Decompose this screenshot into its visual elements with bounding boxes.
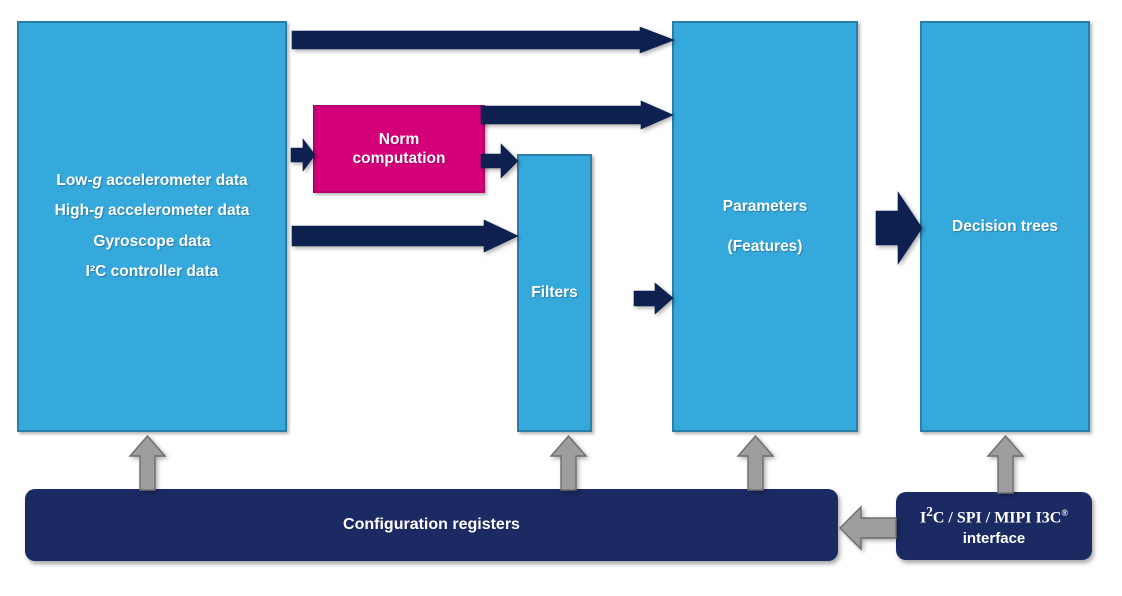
norm-label-line2: computation (353, 149, 446, 168)
configuration-registers-block: Configuration registers (25, 489, 838, 561)
registered-trademark-icon: ® (1061, 508, 1068, 518)
interface-block: I2C / SPI / MIPI I3C® interface (896, 492, 1092, 560)
arrow-interface-to-config (840, 507, 896, 549)
configuration-registers-label: Configuration registers (343, 516, 520, 534)
decision-trees-label: Decision trees (952, 218, 1058, 236)
arrow-parameters-to-decision-trees (876, 192, 922, 264)
interface-label-line2: interface (963, 529, 1026, 549)
arrow-config-to-filters (551, 436, 586, 490)
sensor-data-sources-block: Low-g accelerometer data High-g accelero… (17, 21, 287, 432)
arrow-source-to-norm (291, 139, 315, 171)
filters-label: Filters (531, 284, 578, 302)
arrow-source-to-parameters-top (292, 27, 674, 53)
arrow-config-to-parameters (738, 436, 773, 490)
interface-label-line1: I2C / SPI / MIPI I3C® (920, 503, 1068, 529)
source-line-gyroscope: Gyroscope data (93, 234, 210, 250)
source-line-i2c-controller: I²C controller data (86, 264, 219, 280)
norm-computation-block: Norm computation (313, 105, 485, 193)
arrow-norm-to-filters (481, 144, 518, 178)
decision-trees-block: Decision trees (920, 21, 1090, 432)
arrow-norm-to-parameters (481, 101, 673, 129)
source-line-low-g: Low-g accelerometer data (56, 173, 247, 189)
filters-block: Filters (517, 154, 592, 432)
arrow-source-to-filters (292, 220, 518, 252)
arrow-config-to-source (130, 436, 165, 490)
norm-label-line1: Norm (379, 130, 419, 149)
arrow-filters-to-parameters (634, 283, 673, 314)
parameters-label-line1: Parameters (723, 198, 807, 216)
source-line-high-g: High-g accelerometer data (55, 203, 250, 219)
arrow-interface-to-decision-trees (988, 436, 1023, 493)
diagram-canvas: Low-g accelerometer data High-g accelero… (0, 0, 1122, 596)
parameters-label-line2: (Features) (728, 238, 803, 256)
parameters-features-block: Parameters (Features) (672, 21, 858, 432)
